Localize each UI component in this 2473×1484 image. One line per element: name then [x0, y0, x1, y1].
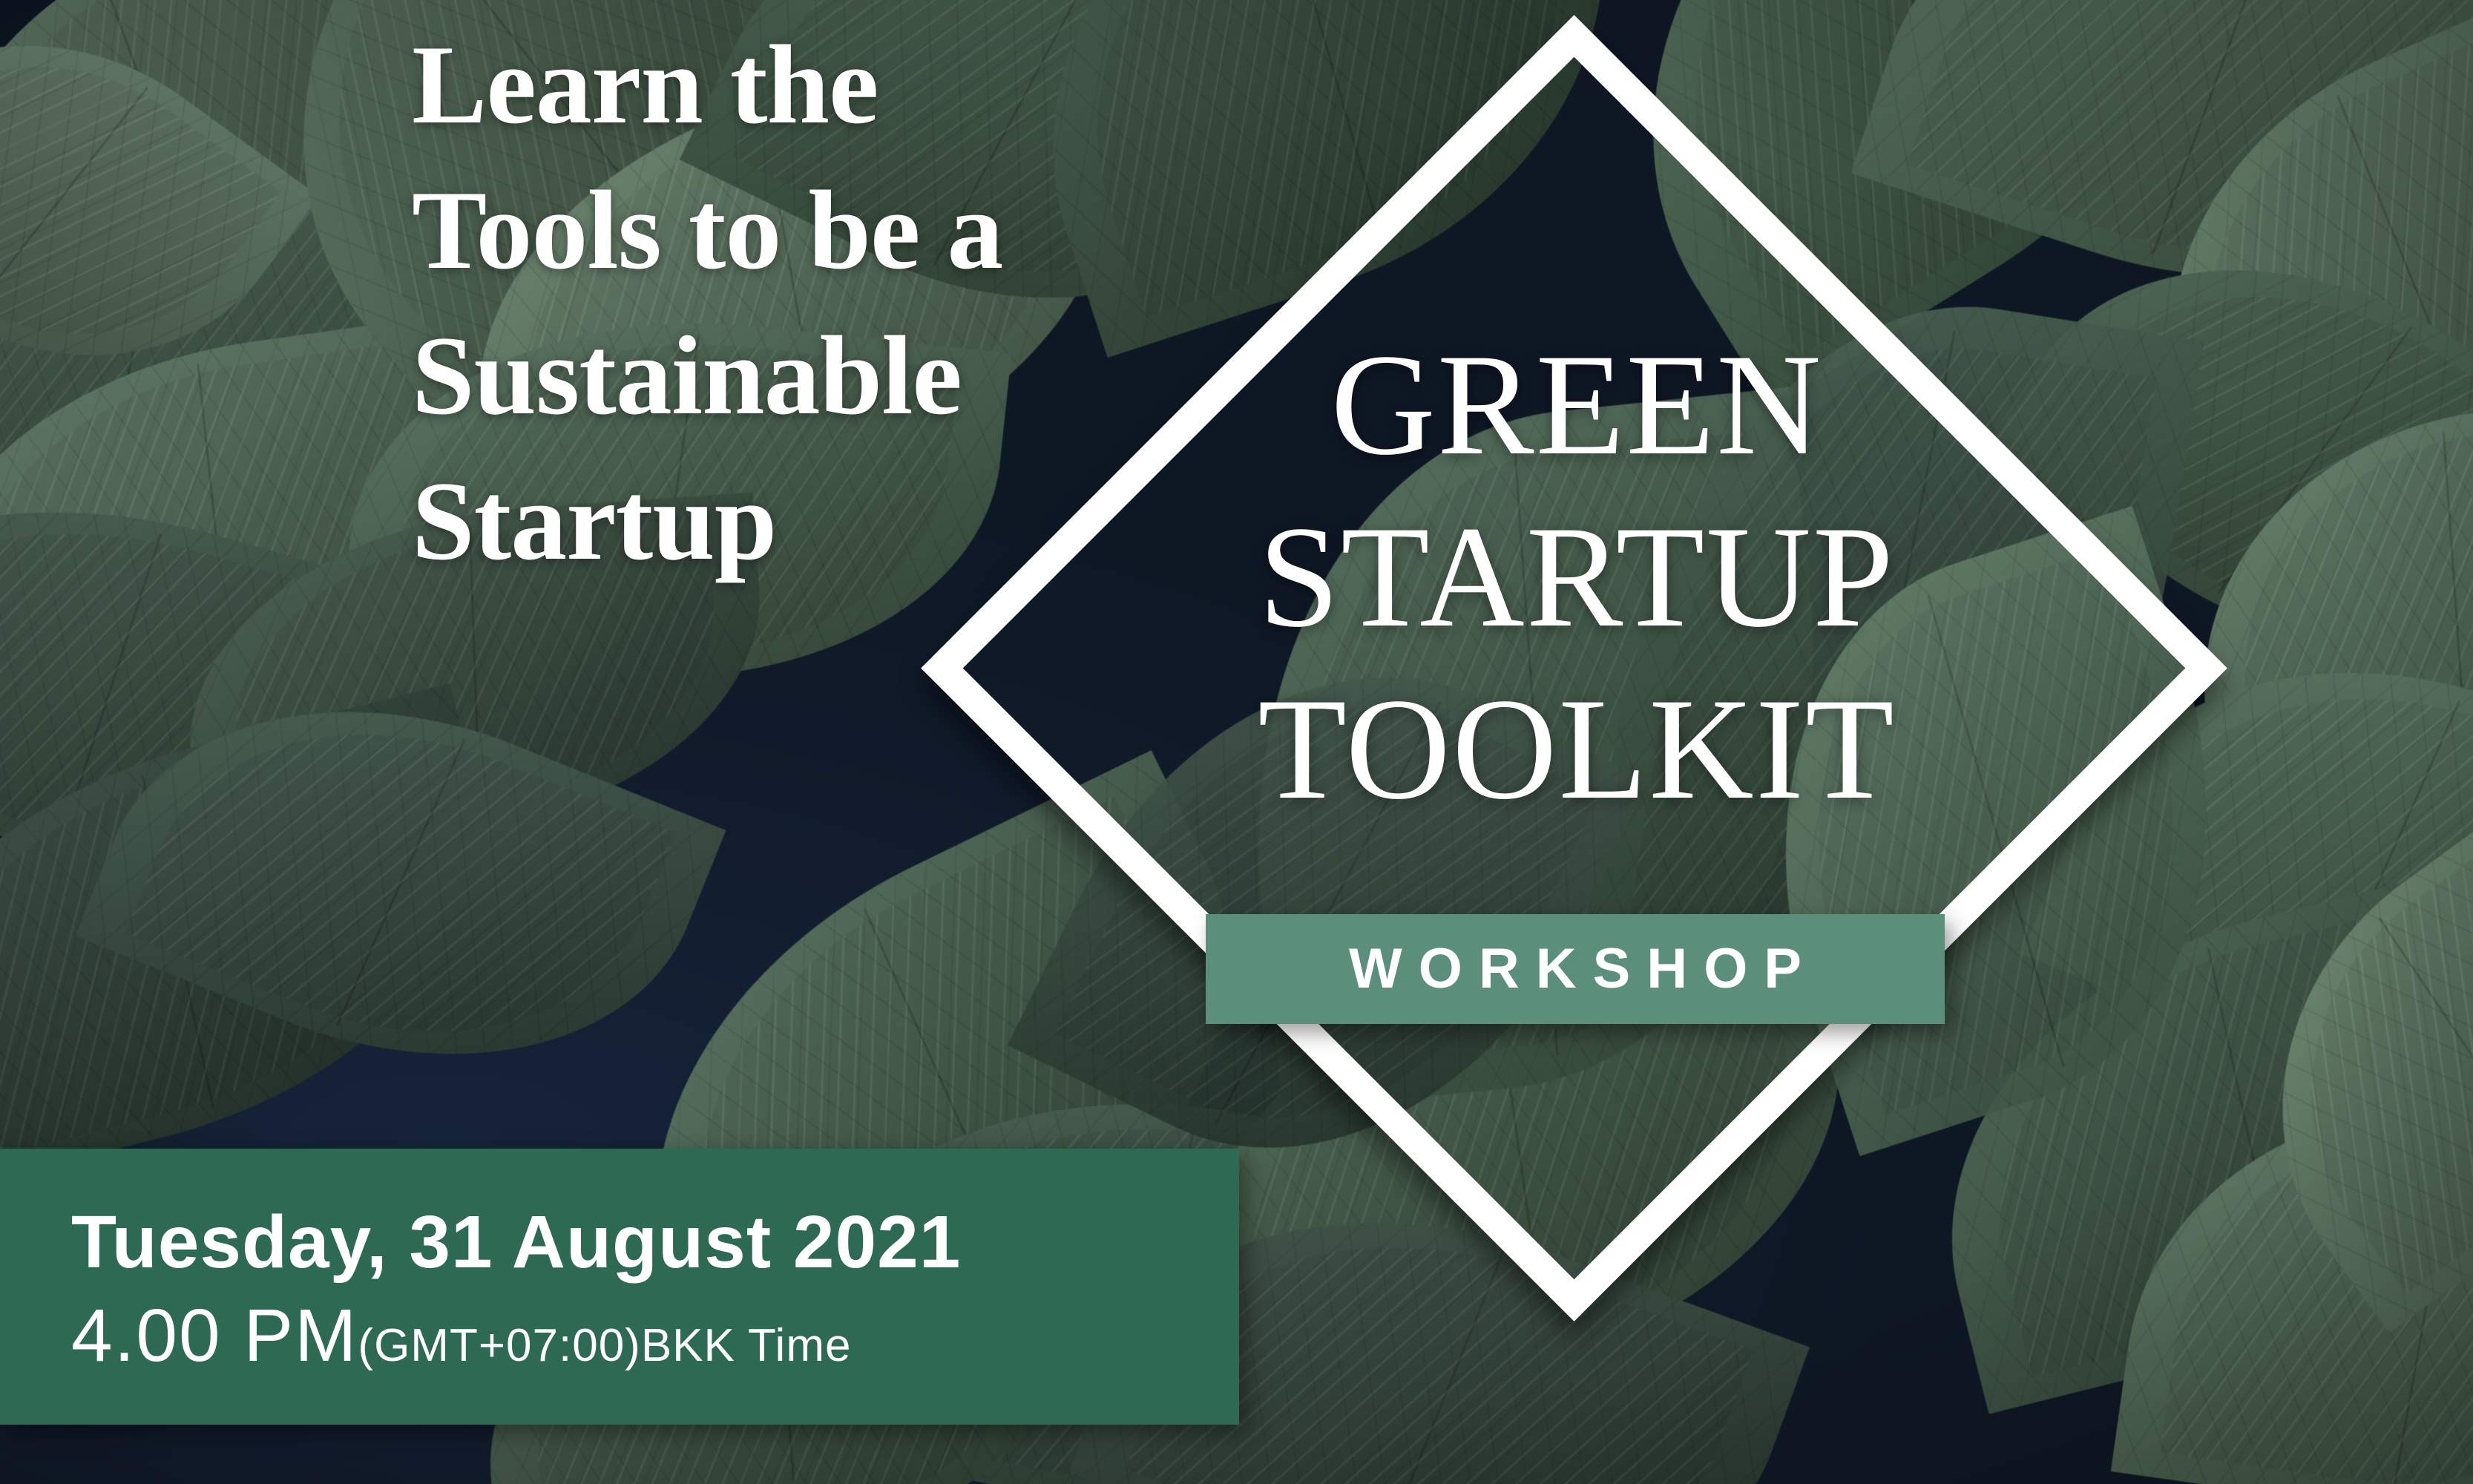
poster-canvas: Learn the Tools to be a Sustainable Star… — [0, 0, 2473, 1484]
schedule-box: Tuesday, 31 August 2021 4.00 PM(GMT+07:0… — [0, 1149, 1239, 1425]
event-date: Tuesday, 31 August 2021 — [71, 1202, 1239, 1282]
workshop-badge-label: WORKSHOP — [1333, 941, 1818, 997]
workshop-badge: WORKSHOP — [1206, 914, 1945, 1024]
event-title-line-2: STARTUP — [1031, 491, 2122, 663]
event-title: GREEN STARTUP TOOLKIT — [1031, 319, 2122, 835]
event-time-row: 4.00 PM(GMT+07:00)BKK Time — [71, 1296, 1239, 1398]
event-time: 4.00 PM — [71, 1294, 358, 1377]
event-title-line-3: TOOLKIT — [1031, 663, 2122, 835]
event-title-line-1: GREEN — [1031, 319, 2122, 491]
event-timezone: (GMT+07:00)BKK Time — [358, 1320, 851, 1371]
